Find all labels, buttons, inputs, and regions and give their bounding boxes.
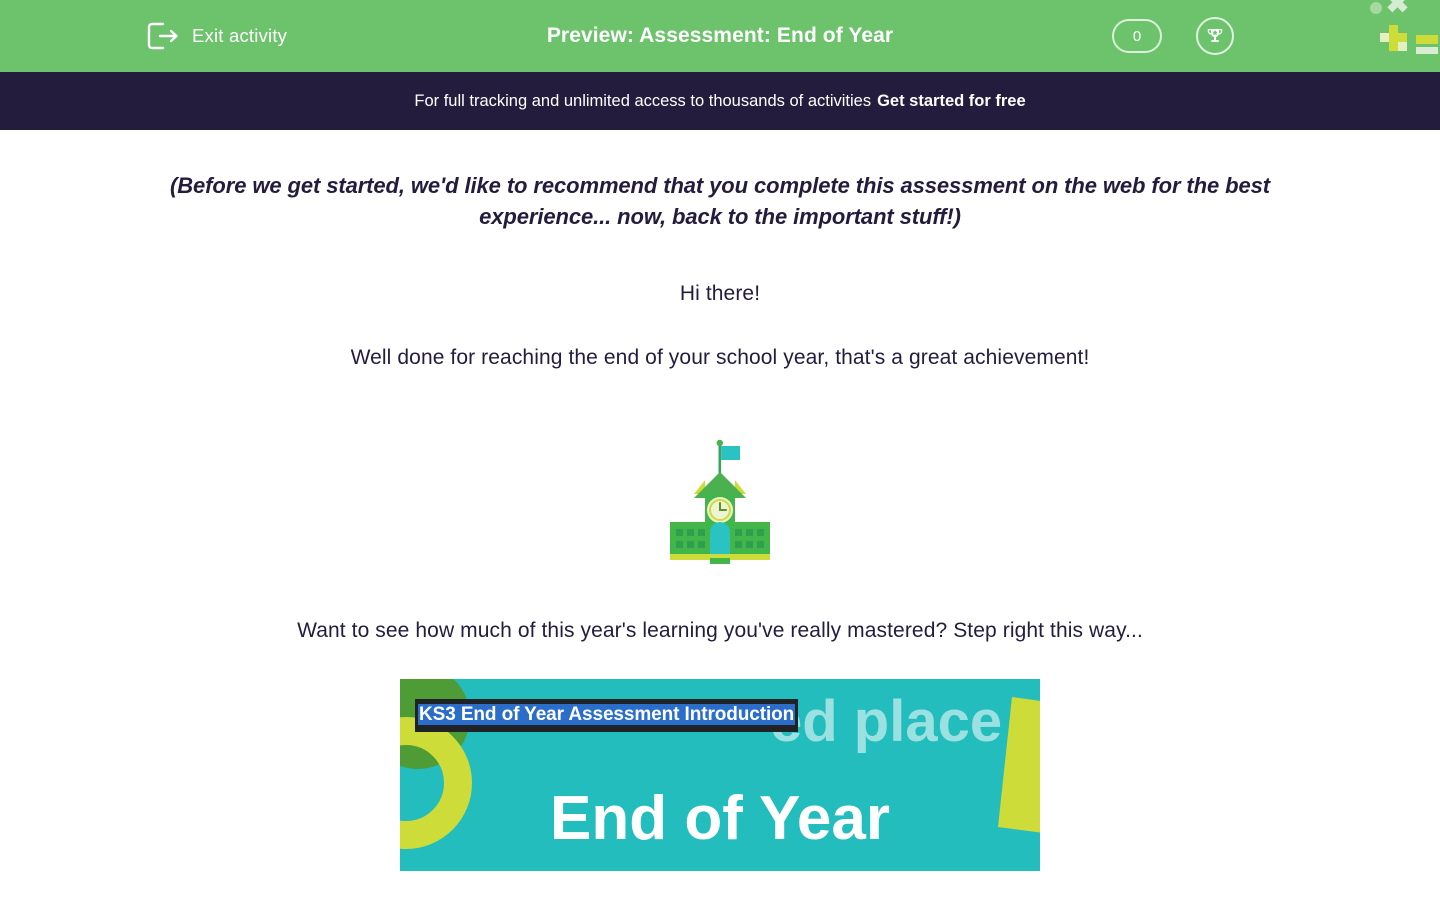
get-started-link[interactable]: Get started for free [877,92,1026,111]
exit-arrow-icon [146,21,180,51]
video-player[interactable]: ed place End of Year Assessment KS3 End … [400,679,1040,871]
promo-banner: For full tracking and unlimited access t… [0,72,1440,130]
video-subheadline: Assessment [573,866,868,871]
video-brand-text: ed place [770,689,1002,754]
video-title-text: KS3 End of Year Assessment Introduction [418,704,795,725]
congrats-text: Well done for reaching the end of your s… [0,346,1440,370]
promo-text: For full tracking and unlimited access t… [414,92,871,111]
header-actions: 0 [1112,0,1234,72]
recommendation-note: (Before we get started, we'd like to rec… [155,170,1285,232]
video-title-overlay[interactable]: KS3 End of Year Assessment Introduction [415,699,798,732]
school-building-icon [658,432,782,566]
header-decoration [1360,0,1440,60]
app-header: Exit activity Preview: Assessment: End o… [0,0,1440,72]
prompt-text: Want to see how much of this year's lear… [0,619,1440,643]
video-headline: End of Year [550,784,890,853]
trophy-icon [1204,25,1226,47]
video-embed-wrapper: ed place End of Year Assessment KS3 End … [0,679,1440,871]
exit-activity-button[interactable]: Exit activity [146,21,287,51]
greeting-text: Hi there! [0,282,1440,306]
activity-content: (Before we get started, we'd like to rec… [0,130,1440,871]
school-illustration [0,432,1440,566]
score-value: 0 [1133,28,1141,45]
score-badge[interactable]: 0 [1112,19,1162,53]
exit-activity-label: Exit activity [192,25,287,47]
trophy-button[interactable] [1196,17,1234,55]
